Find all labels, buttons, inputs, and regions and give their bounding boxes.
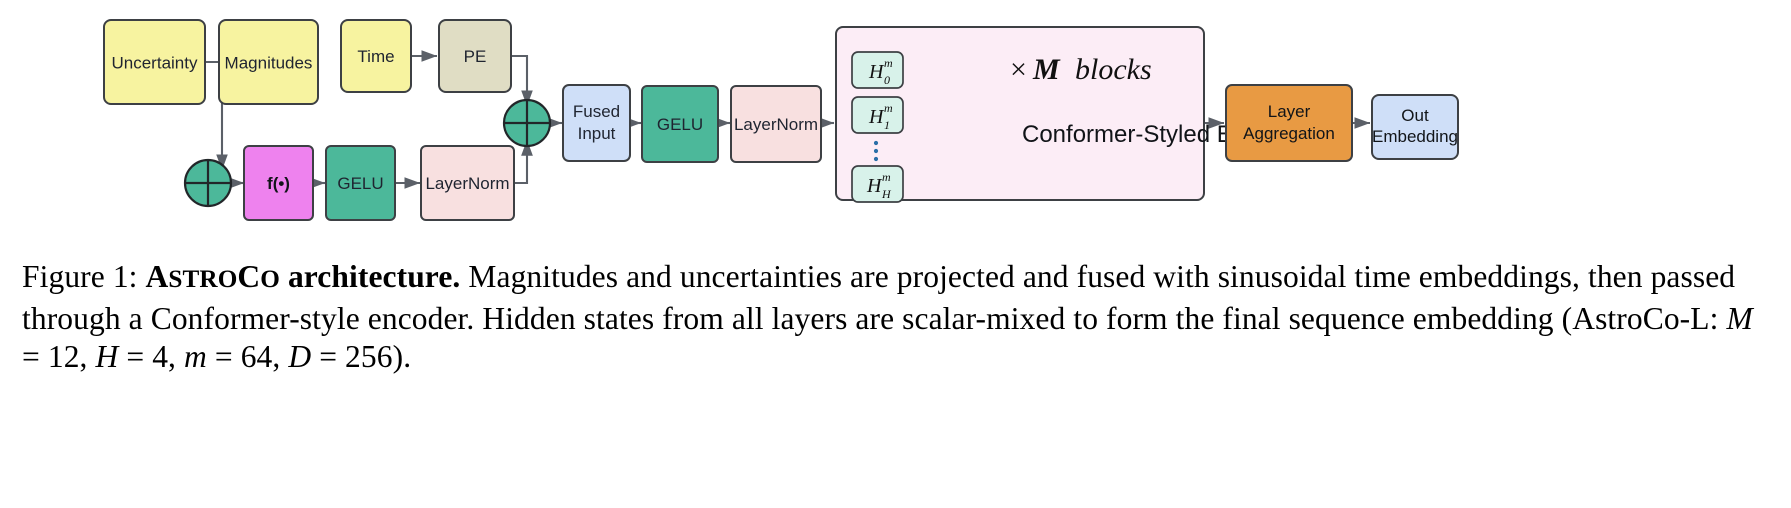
caption-figure-label: Figure 1:	[22, 259, 138, 294]
caption-eq-4: =	[311, 339, 345, 374]
hidden-state-ellipsis-icon	[874, 141, 878, 161]
node-gelu-main: GELU	[642, 86, 718, 162]
caption-title: ASTROCO architecture.	[146, 259, 461, 294]
caption-eq-3: =	[207, 339, 241, 374]
hidden-state-chip-2: H H m	[852, 166, 903, 202]
node-label-out-embedding-line2: Embedding	[1372, 127, 1458, 146]
node-projection: f(•)	[244, 146, 313, 220]
caption-title-c: C	[237, 259, 260, 294]
caption-value-m: 64	[241, 339, 273, 374]
sum-node-2	[504, 100, 550, 146]
hidden-state-sub-0: 0	[884, 73, 890, 87]
blocks-symbol-M: M	[1032, 53, 1061, 86]
node-out-embedding: Out Embedding	[1372, 95, 1458, 159]
node-layer-aggregation: Layer Aggregation	[1226, 85, 1352, 161]
hidden-state-sup-2: m	[882, 170, 891, 184]
connector-pe-to-sum2	[510, 56, 527, 106]
hidden-state-sub-1: 1	[884, 118, 890, 132]
node-time: Time	[341, 20, 411, 92]
hidden-state-sup-1: m	[884, 101, 893, 115]
caption-sep-1: ,	[80, 339, 96, 374]
node-label-projection: f(•)	[267, 174, 290, 193]
node-label-pe: PE	[464, 47, 487, 66]
caption-math-D: D	[288, 339, 311, 374]
hidden-state-chip-0: H 0 m	[852, 52, 903, 88]
caption-math-m: m	[184, 339, 207, 374]
node-label-fused-input-line1: Fused	[573, 102, 620, 121]
caption-body-1: Magnitudes and uncertainties are project…	[468, 259, 1209, 294]
caption-math-M: M	[1726, 301, 1752, 336]
caption-value-H: 4	[152, 339, 168, 374]
hidden-state-base-2: H	[866, 175, 883, 197]
node-label-fused-input-line2: Input	[578, 124, 616, 143]
figure-caption: Figure 1:ASTROCO architecture.Magnitudes…	[22, 258, 1772, 377]
hidden-state-base-1: H	[868, 106, 885, 128]
caption-tail: ).	[393, 339, 412, 374]
caption-value-M: 12	[48, 339, 80, 374]
node-label-magnitudes: Magnitudes	[225, 54, 313, 73]
node-label-uncertainty: Uncertainty	[112, 54, 198, 73]
node-layernorm-main: LayerNorm	[731, 86, 821, 162]
caption-title-a: A	[146, 259, 169, 294]
node-label-out-embedding-line1: Out	[1401, 106, 1429, 125]
node-label-layernorm-main: LayerNorm	[734, 115, 818, 134]
caption-value-D: 256	[345, 339, 393, 374]
blocks-word: blocks	[1075, 53, 1152, 86]
node-label-gelu-lower: GELU	[337, 174, 383, 193]
node-label-time: Time	[357, 47, 394, 66]
hidden-state-base-0: H	[868, 61, 885, 83]
node-label-layernorm-lower: LayerNorm	[425, 174, 509, 193]
node-label-layer-aggregation-line1: Layer	[1268, 102, 1311, 121]
hidden-state-sub-2: H	[881, 187, 892, 201]
node-fused-input: Fused Input	[563, 85, 630, 161]
caption-title-o: O	[260, 266, 280, 293]
caption-sep-2: ,	[168, 339, 184, 374]
caption-eq-1: =	[22, 339, 48, 374]
node-gelu-lower: GELU	[326, 146, 395, 220]
node-uncertainty: Uncertainty	[104, 20, 205, 104]
hidden-state-chip-1: H 1 m	[852, 97, 903, 133]
architecture-diagram: Uncertainty Magnitudes Time PE f(•) GELU…	[0, 0, 1791, 250]
caption-sep-3: ,	[272, 339, 280, 374]
node-label-gelu-main: GELU	[657, 115, 703, 134]
caption-eq-2: =	[118, 339, 152, 374]
caption-title-stro: STRO	[168, 266, 237, 293]
hidden-state-sup-0: m	[884, 56, 893, 70]
node-pe: PE	[439, 20, 511, 92]
node-layernorm-lower: LayerNorm	[421, 146, 514, 220]
caption-title-rest: architecture.	[288, 259, 460, 294]
blocks-multiplier-symbol: ×	[1010, 53, 1027, 86]
node-magnitudes: Magnitudes	[219, 20, 318, 104]
node-label-layer-aggregation-line2: Aggregation	[1243, 124, 1335, 143]
sum-node-1	[185, 160, 231, 206]
caption-body-3: layers are scalar-mixed to form the fina…	[772, 301, 1727, 336]
caption-math-H: H	[96, 339, 119, 374]
